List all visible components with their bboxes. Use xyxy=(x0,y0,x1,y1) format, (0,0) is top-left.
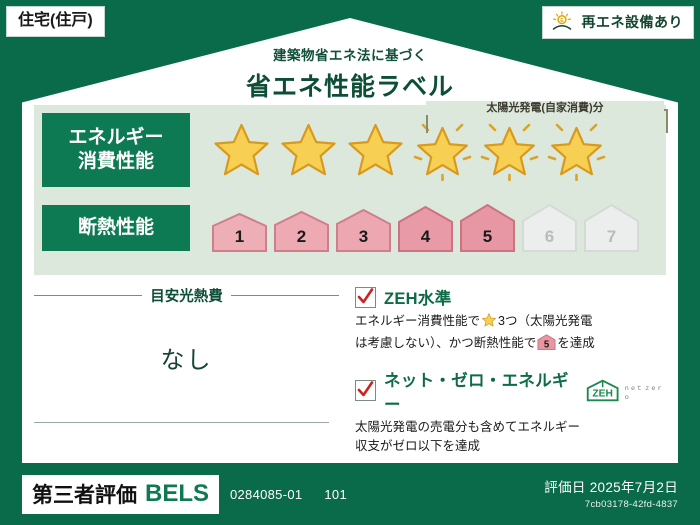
claim-zeh-standard: ZEH水準 エネルギー消費性能で3つ（太陽光発電は考慮しない）、かつ断熱性能で5… xyxy=(355,285,666,357)
cert-number-secondary: 101 xyxy=(324,487,347,502)
renewable-equipment-badge: E 再エネ設備あり xyxy=(542,6,695,39)
insulation-level-value: 2 xyxy=(272,227,331,247)
insulation-level-badge: 1 xyxy=(210,212,269,252)
insulation-level-value: 4 xyxy=(396,227,455,247)
insulation-level-badge: 6 xyxy=(520,203,579,252)
certificate-number: 0284085-01101 xyxy=(230,487,347,502)
net-zero-checkbox[interactable] xyxy=(355,380,376,401)
footer-bar: 第三者評価 BELS 0284085-01101 評価日 2025年7月2日 7… xyxy=(0,465,700,525)
insulation-level-scale: 1 2 3 4 5 xyxy=(210,203,641,252)
net-zero-desc-part1: 太陽光発電の売電分も含めてエネルギー xyxy=(355,420,580,434)
zeh-desc-part3: は考慮しない）、かつ断熱性能で xyxy=(355,336,536,350)
svg-text:E: E xyxy=(560,18,564,24)
energy-cost-heading-text: 目安光熱費 xyxy=(150,285,223,306)
star-icon xyxy=(481,312,497,334)
net-zero-desc-part2: 収支がゼロ以下を達成 xyxy=(355,439,480,453)
insulation-level-badge: 2 xyxy=(272,210,331,252)
evaluation-date-value: 2025年7月2日 xyxy=(590,480,678,495)
insulation-level-badge: 4 xyxy=(396,205,455,252)
energy-cost-value: なし xyxy=(34,340,339,375)
bels-energy-label: 住宅(住戸) E 再エネ設備あり 建築物省エネ法に基づく 省エネ性能ラベル xyxy=(0,0,700,525)
bels-en-label: BELS xyxy=(145,480,209,508)
zeh-logo-subtext: ｎｅｔ ｚｅｒｏ xyxy=(624,383,666,401)
evaluation-date-block: 評価日 2025年7月2日 7cb03178-42fd-4837 xyxy=(544,476,678,510)
zeh-desc-part1: エネルギー消費性能で xyxy=(355,314,480,328)
bels-jp-label: 第三者評価 xyxy=(32,479,137,509)
insulation-performance-row: 断熱性能 1 2 3 4 xyxy=(34,203,641,252)
energy-performance-label: エネルギー 消費性能 xyxy=(42,113,190,187)
claim-net-zero-header: ネット・ゼロ・エネルギー ZEH ｎｅｔ ｚｅｒｏ xyxy=(355,367,666,415)
zeh-desc-part2: 3つ（太陽光発電 xyxy=(498,314,592,328)
energy-label-line1: エネルギー xyxy=(68,126,163,150)
sun-solar-icon: E xyxy=(551,11,575,33)
net-zero-description: 太陽光発電の売電分も含めてエネルギー収支がゼロ以下を達成 xyxy=(355,418,666,457)
evaluation-id: 7cb03178-42fd-4837 xyxy=(544,499,678,510)
insulation-level-value: 6 xyxy=(520,227,579,247)
energy-cost-block: 目安光熱費 なし xyxy=(34,285,339,455)
insulation-performance-label: 断熱性能 xyxy=(42,205,190,251)
insulation-level-badge: 5 xyxy=(458,203,517,252)
insulation-level-badge-inline: 5 xyxy=(537,334,556,356)
zeh-standard-checkbox[interactable] xyxy=(355,287,376,308)
page-title: 省エネ性能ラベル xyxy=(0,67,700,103)
zeh-standard-description: エネルギー消費性能で3つ（太陽光発電は考慮しない）、かつ断熱性能で5を達成 xyxy=(355,312,666,357)
zeh-house-logo: ZEH ｎｅｔ ｚｅｒｏ xyxy=(584,378,666,403)
title-block: 建築物省エネ法に基づく 省エネ性能ラベル xyxy=(0,44,700,103)
net-zero-title: ネット・ゼロ・エネルギー xyxy=(384,367,572,415)
energy-label-line2: 消費性能 xyxy=(78,150,154,174)
star-icon xyxy=(344,119,407,181)
star-icon xyxy=(210,119,273,181)
claim-net-zero-energy: ネット・ゼロ・エネルギー ZEH ｎｅｔ ｚｅｒｏ 太陽光発電の売電分も含めてエ… xyxy=(355,367,666,457)
insulation-level-badge: 3 xyxy=(334,208,393,252)
rule-right xyxy=(231,295,339,296)
insulation-level-value: 1 xyxy=(210,227,269,247)
renewable-badge-label: 再エネ設備あり xyxy=(582,12,684,32)
zeh-standard-title: ZEH水準 xyxy=(384,285,452,309)
title-subtitle: 建築物省エネ法に基づく xyxy=(0,44,700,64)
energy-cost-underline xyxy=(34,422,329,423)
energy-cost-heading: 目安光熱費 xyxy=(34,285,339,306)
claims-block: ZEH水準 エネルギー消費性能で3つ（太陽光発電は考慮しない）、かつ断熱性能で5… xyxy=(339,285,666,455)
cert-number-main: 0284085-01 xyxy=(230,487,302,502)
lower-section: 目安光熱費 なし ZEH水準 エネルギー消費性能で3つ（太陽光発電は考慮しない）… xyxy=(34,285,666,455)
zeh-desc-part4: を達成 xyxy=(557,336,595,350)
star-icon xyxy=(277,119,340,181)
insulation-label-text: 断熱性能 xyxy=(78,216,154,240)
evaluation-date-label: 評価日 xyxy=(544,480,585,495)
evaluation-date-line: 評価日 2025年7月2日 xyxy=(544,476,678,496)
bels-logo-box: 第三者評価 BELS xyxy=(22,475,219,514)
category-tag: 住宅(住戸) xyxy=(6,6,105,37)
insulation-level-value: 5 xyxy=(458,227,517,247)
insulation-level-value: 7 xyxy=(582,227,641,247)
rule-left xyxy=(34,295,142,296)
svg-text:ZEH: ZEH xyxy=(593,389,614,400)
solar-bracket-label: 太陽光発電(自家消費)分 xyxy=(426,101,664,115)
insulation-level-badge: 7 xyxy=(582,203,641,252)
performance-panel: 太陽光発電(自家消費)分 エネルギー 消費性能 xyxy=(34,105,666,275)
svg-text:5: 5 xyxy=(544,340,550,350)
claim-zeh-standard-header: ZEH水準 xyxy=(355,285,666,309)
insulation-level-value: 3 xyxy=(334,227,393,247)
